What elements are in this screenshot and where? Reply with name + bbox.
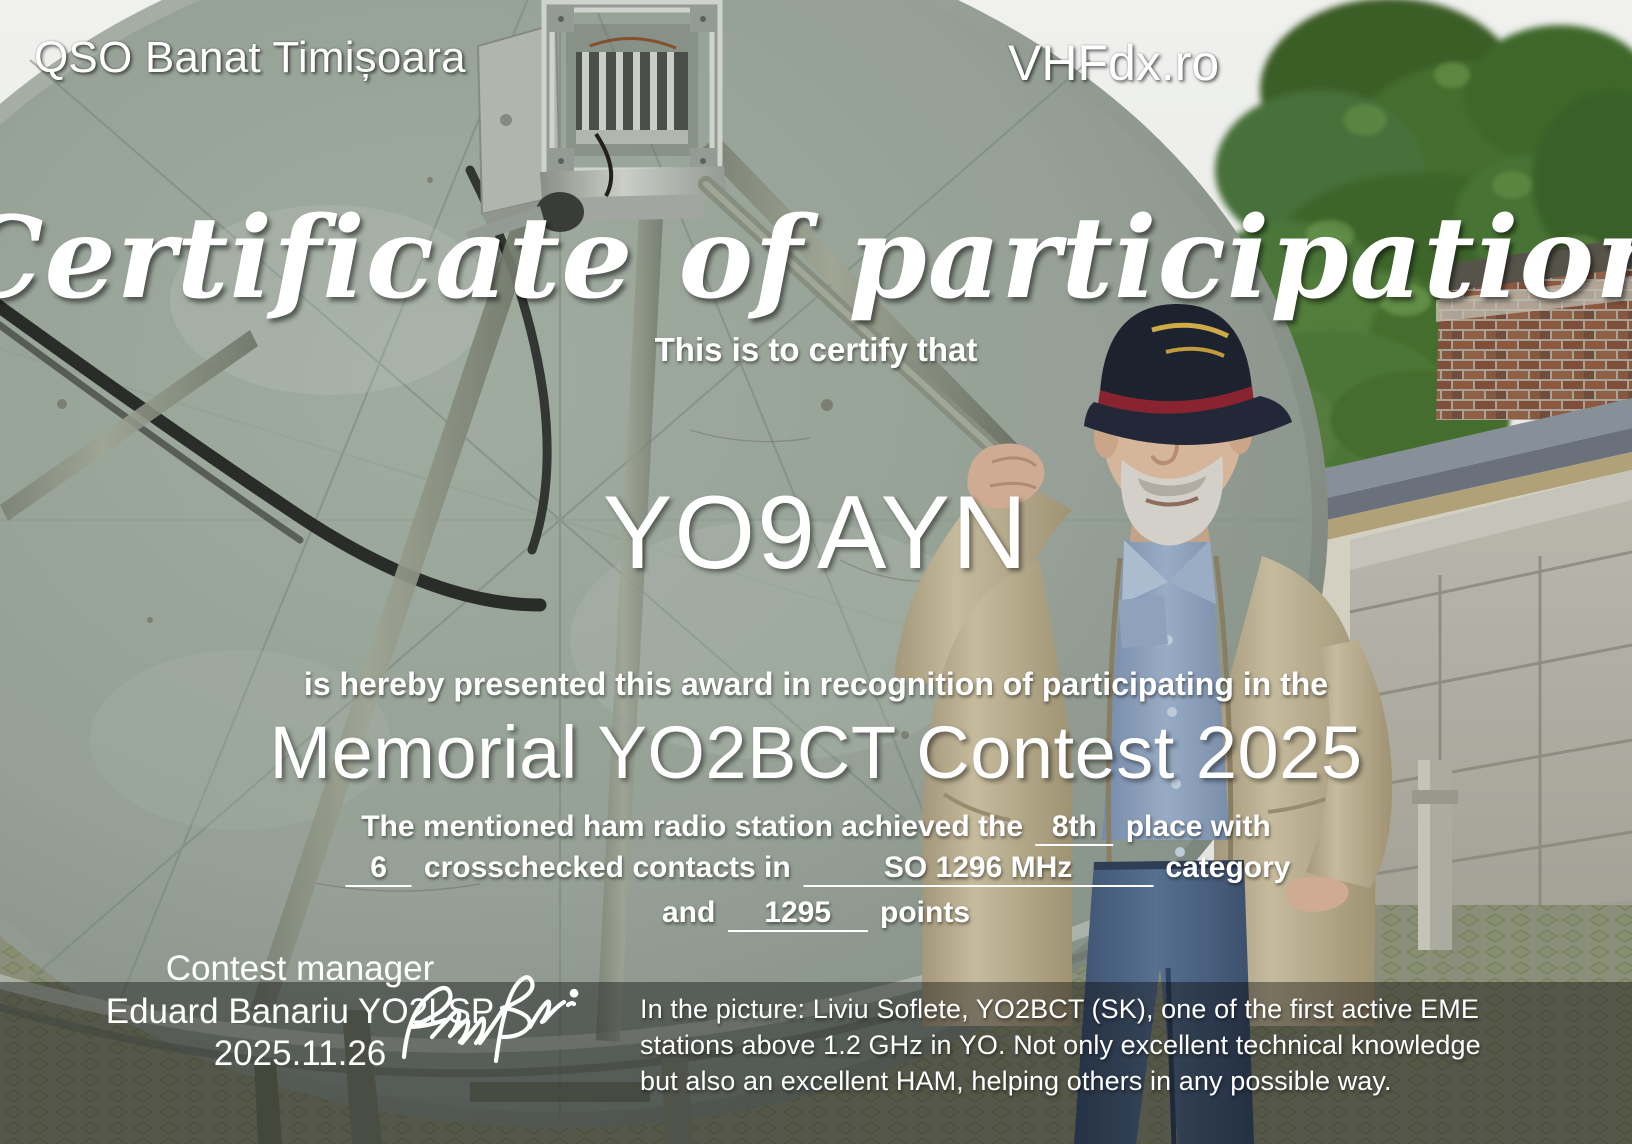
caption-line-3: but also an excellent HAM, helping other… [640,1064,1600,1100]
placement-prefix: The mentioned ham radio station achieved… [361,810,1023,843]
points-line: and 1295 points [662,898,970,932]
points-prefix: and [662,896,715,929]
contest-name: Memorial YO2BCT Contest 2025 [270,716,1363,790]
script-title-part1: Certificate [0,193,634,324]
points-value: 1295 [728,898,868,932]
placement-suffix: place with [1126,810,1271,843]
caption-line-2: stations above 1.2 GHz in YO. Not only e… [640,1028,1600,1064]
photo-caption: In the picture: Liviu Soflete, YO2BCT (S… [640,992,1600,1100]
contacts-mid-text: crosschecked contacts in [424,851,791,884]
certificate-canvas: QSO Banat Timișoara VHFdx.ro Certificate… [0,0,1632,1144]
presentation-text: is hereby presented this award in recogn… [304,668,1328,700]
certify-subtitle: This is to certify that [655,333,978,366]
manager-signature [392,965,582,1070]
page-title-left: QSO Banat Timișoara [34,36,466,80]
contacts-suffix: category [1165,851,1290,884]
script-title-part2: of [679,193,804,324]
category-value: SO 1296 MHz [803,853,1153,887]
certificate-script-title: Certificate of participation [0,203,1632,315]
recipient-callsign: YO9AYN [603,481,1029,585]
qso-count-value: 6 [346,853,412,887]
text-overlay: QSO Banat Timișoara VHFdx.ro Certificate… [0,0,1632,1144]
contacts-line: 6 crosschecked contacts in SO 1296 MHz c… [342,853,1291,887]
placement-line: The mentioned ham radio station achieved… [361,812,1271,846]
site-brand: VHFdx.ro [1008,38,1219,88]
caption-line-1: In the picture: Liviu Soflete, YO2BCT (S… [640,992,1600,1028]
points-suffix: points [880,896,970,929]
script-title-part3: participation [848,193,1632,324]
place-value: 8th [1035,812,1113,846]
